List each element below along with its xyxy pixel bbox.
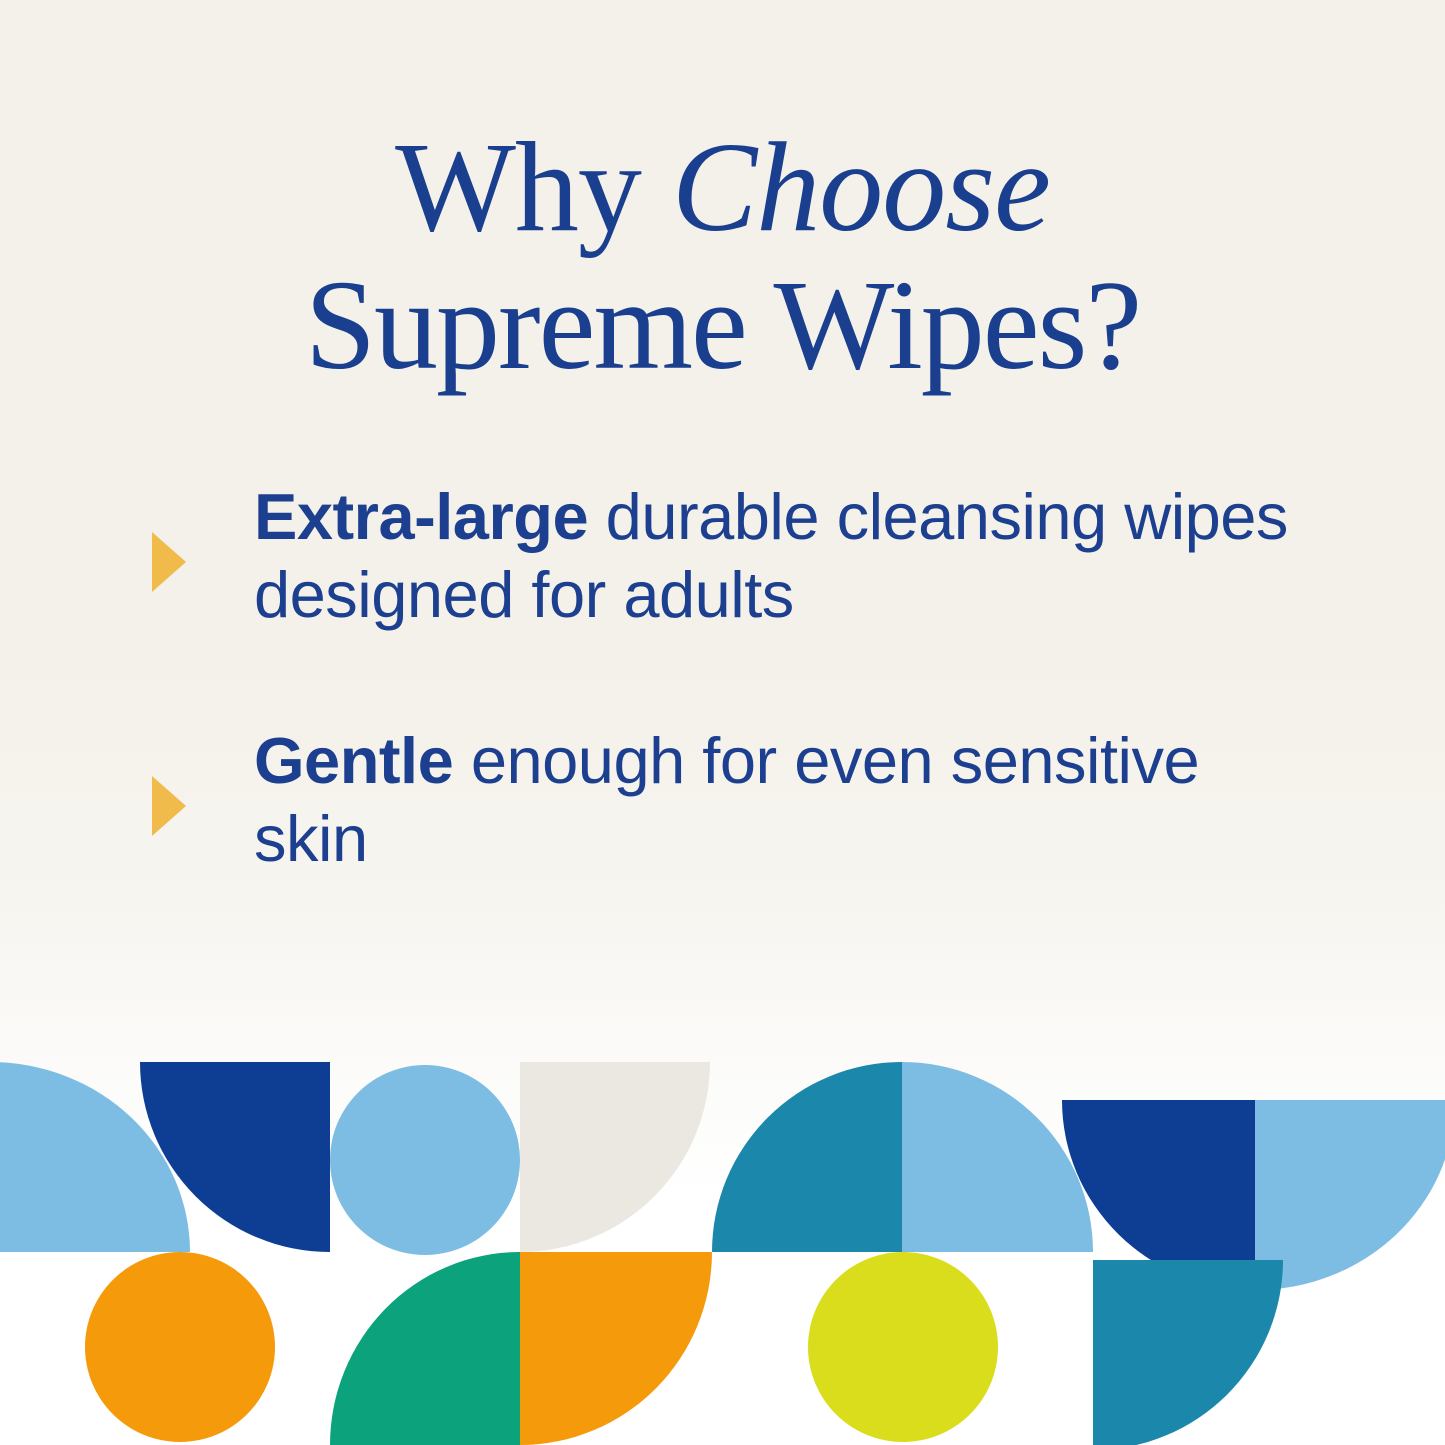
list-item-text: Extra-large durable cleansing wipes desi… — [254, 478, 1314, 634]
list-item: Extra-large durable cleansing wipes desi… — [152, 478, 1342, 634]
quarter-cream — [520, 1062, 710, 1252]
half-dome-teal-left — [712, 1062, 902, 1252]
page-title-line-1: Why Choose — [0, 118, 1445, 256]
half-bowl-light-blue-right — [1255, 1100, 1445, 1290]
list-item-emphasis: Extra-large — [254, 480, 588, 553]
page-title: Why Choose Supreme Wipes? — [0, 118, 1445, 394]
list-item-emphasis: Gentle — [254, 724, 453, 797]
decorative-geometric-footer — [0, 1062, 1445, 1445]
promo-graphic: Why Choose Supreme Wipes? Extra-large du… — [0, 0, 1445, 1445]
page-title-word-why: Why — [395, 116, 672, 258]
half-dome-light-blue-right — [902, 1062, 1093, 1252]
triangle-right-icon — [152, 776, 192, 836]
quarter-orange — [520, 1252, 712, 1445]
triangle-right-icon — [152, 532, 192, 592]
list-item: Gentle enough for even sensitive skin — [152, 722, 1342, 878]
page-title-word-choose: Choose — [672, 116, 1050, 258]
quarter-teal-bottom-right — [1093, 1260, 1283, 1445]
list-item-text: Gentle enough for even sensitive skin — [254, 722, 1314, 878]
circle-light-blue — [330, 1065, 520, 1255]
page-title-line-2: Supreme Wipes? — [0, 256, 1445, 394]
benefits-list: Extra-large durable cleansing wipes desi… — [152, 478, 1342, 966]
quarter-green — [330, 1252, 520, 1445]
circle-lime — [808, 1252, 998, 1442]
circle-orange — [85, 1252, 275, 1442]
